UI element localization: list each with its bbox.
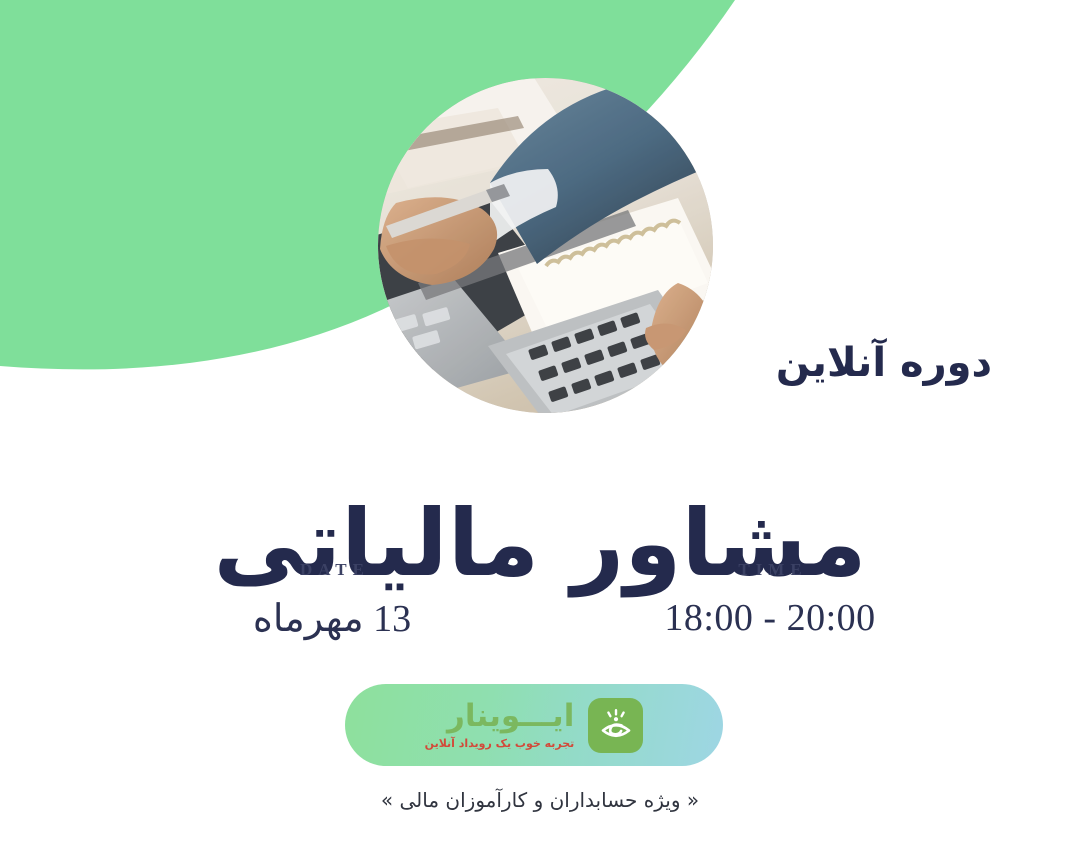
brand-wordmark: ایـــوینار تجربه خوب یک رویداد آنلاین xyxy=(425,701,575,749)
event-meta-row: DATE 13 مهرماه TIME 18:00 - 20:00 xyxy=(0,560,1080,660)
date-block: DATE 13 مهرماه xyxy=(182,560,482,641)
time-label: TIME xyxy=(620,560,920,580)
time-block: TIME 18:00 - 20:00 xyxy=(620,560,920,640)
poster-canvas: دوره آنلاین مشاور مالیاتی DATE 13 مهرماه… xyxy=(0,0,1080,853)
brand-badge[interactable]: ایـــوینار تجربه خوب یک رویداد آنلاین xyxy=(345,684,723,766)
date-label: DATE xyxy=(182,560,482,580)
brand-tagline: تجربه خوب یک رویداد آنلاین xyxy=(425,738,575,749)
date-value: 13 مهرماه xyxy=(182,596,482,641)
brand-name: ایـــوینار xyxy=(425,701,575,732)
time-value: 18:00 - 20:00 xyxy=(620,596,920,640)
eye-sun-logo-icon xyxy=(588,698,643,753)
eyebrow-online-course: دوره آنلاین xyxy=(572,341,992,385)
footer-caption: « ویژه حسابداران و کارآموزان مالی » xyxy=(0,788,1080,812)
